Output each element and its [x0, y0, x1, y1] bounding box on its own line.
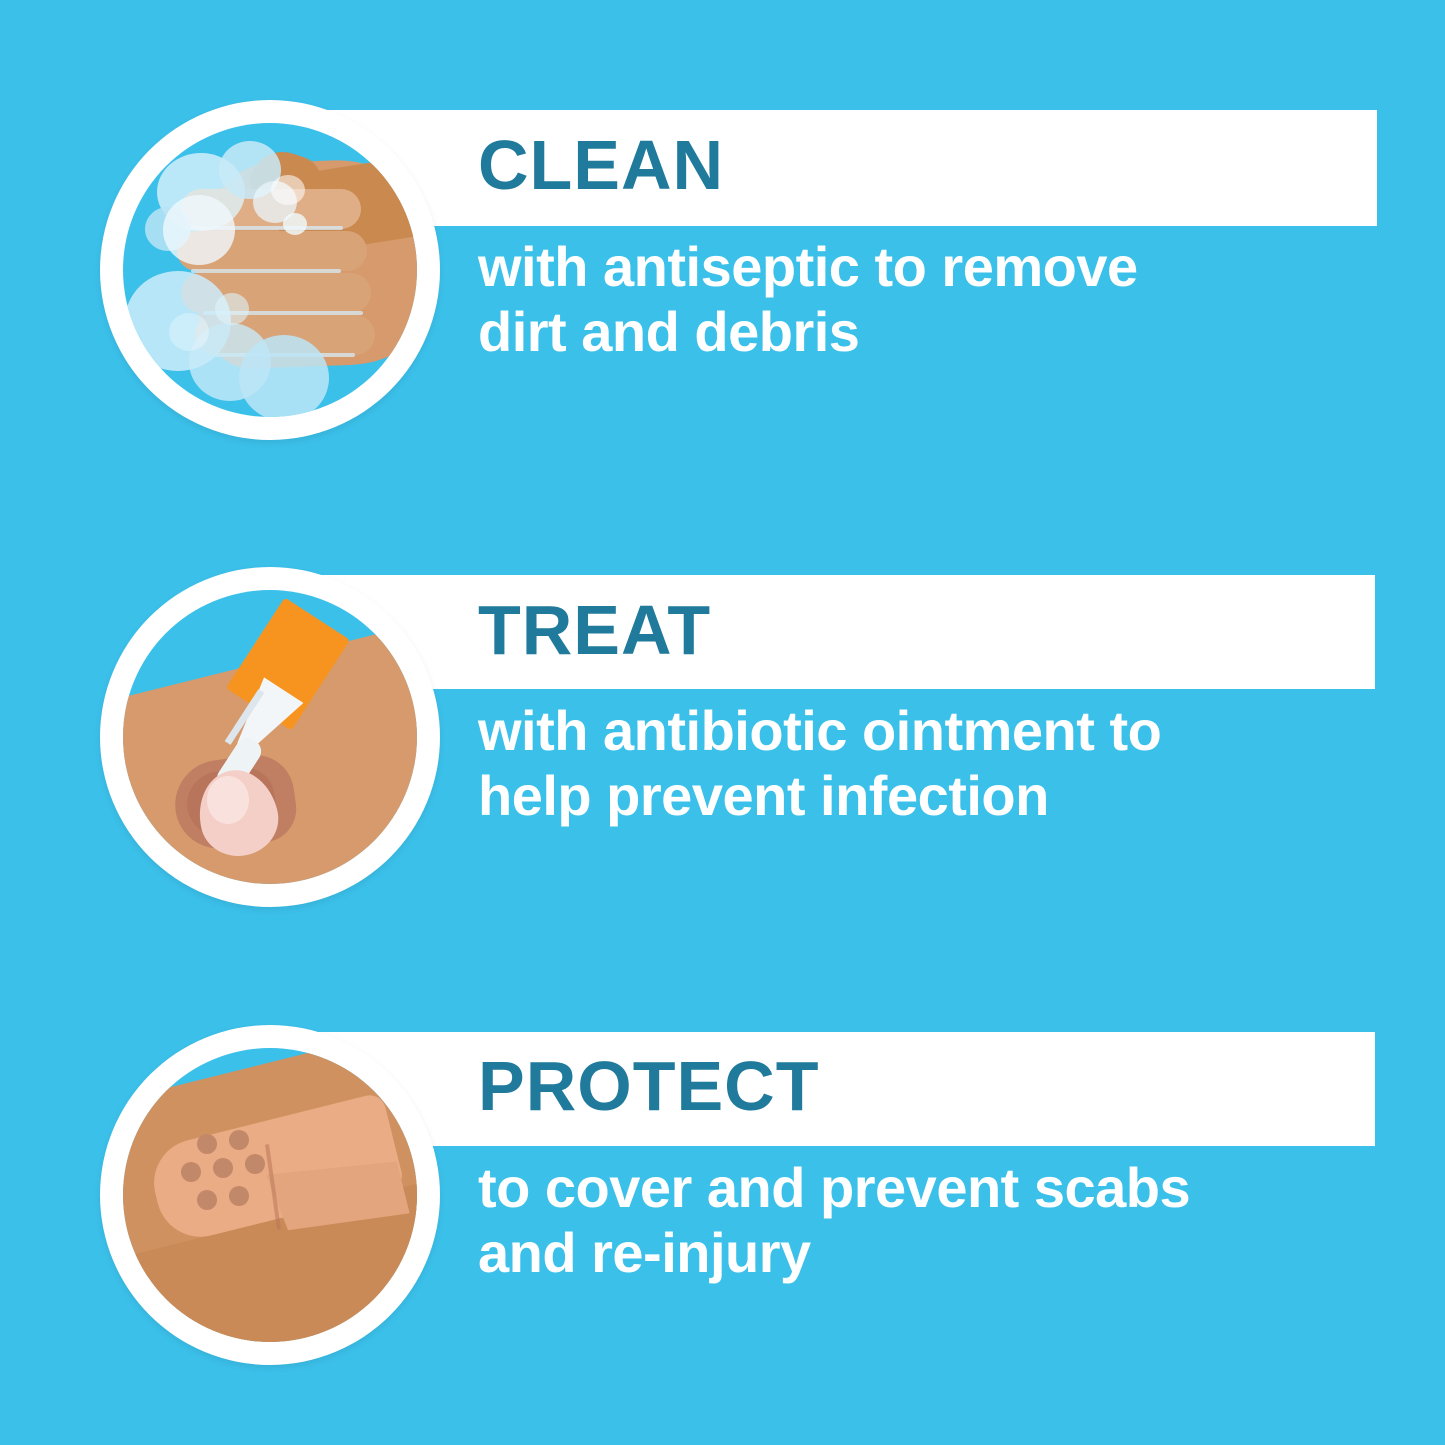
step-treat: TREAT with antibiotic ointment to help p… — [0, 562, 1445, 942]
soap-bubble-10 — [283, 213, 307, 235]
ointment-tube-icon — [100, 567, 440, 907]
soap-bubble-4 — [163, 195, 235, 265]
step-body-clean: with antiseptic to remove dirt and debri… — [478, 235, 1138, 365]
soap-bubble-7 — [239, 335, 329, 417]
bandage-hole-1 — [197, 1134, 217, 1154]
step-title-protect: PROTECT — [478, 1051, 819, 1121]
bandage-hole-4 — [213, 1158, 233, 1178]
step-body-protect: to cover and prevent scabs and re-injury — [478, 1156, 1190, 1286]
ointment-droplet-highlight — [207, 776, 249, 824]
washing-hands-icon — [100, 100, 440, 440]
bandage-hole-5 — [245, 1154, 265, 1174]
soap-bubble-11 — [215, 293, 249, 325]
soap-bubble-9 — [271, 175, 305, 205]
water-streak-2 — [191, 269, 341, 273]
soap-bubble-12 — [169, 313, 209, 351]
adhesive-bandage-icon — [100, 1025, 440, 1365]
bandage-hole-3 — [181, 1162, 201, 1182]
step-title-treat: TREAT — [478, 595, 711, 665]
bandage-hole-7 — [229, 1186, 249, 1206]
step-body-treat: with antibiotic ointment to help prevent… — [478, 699, 1161, 829]
bandage-hole-6 — [197, 1190, 217, 1210]
bandage-hole-2 — [229, 1130, 249, 1150]
step-clean: CLEAN with antiseptic to remove dirt and… — [0, 95, 1445, 475]
step-protect: PROTECT to cover and prevent scabs and r… — [0, 1020, 1445, 1400]
step-title-clean: CLEAN — [478, 130, 724, 200]
infographic-poster: CLEAN with antiseptic to remove dirt and… — [0, 0, 1445, 1445]
